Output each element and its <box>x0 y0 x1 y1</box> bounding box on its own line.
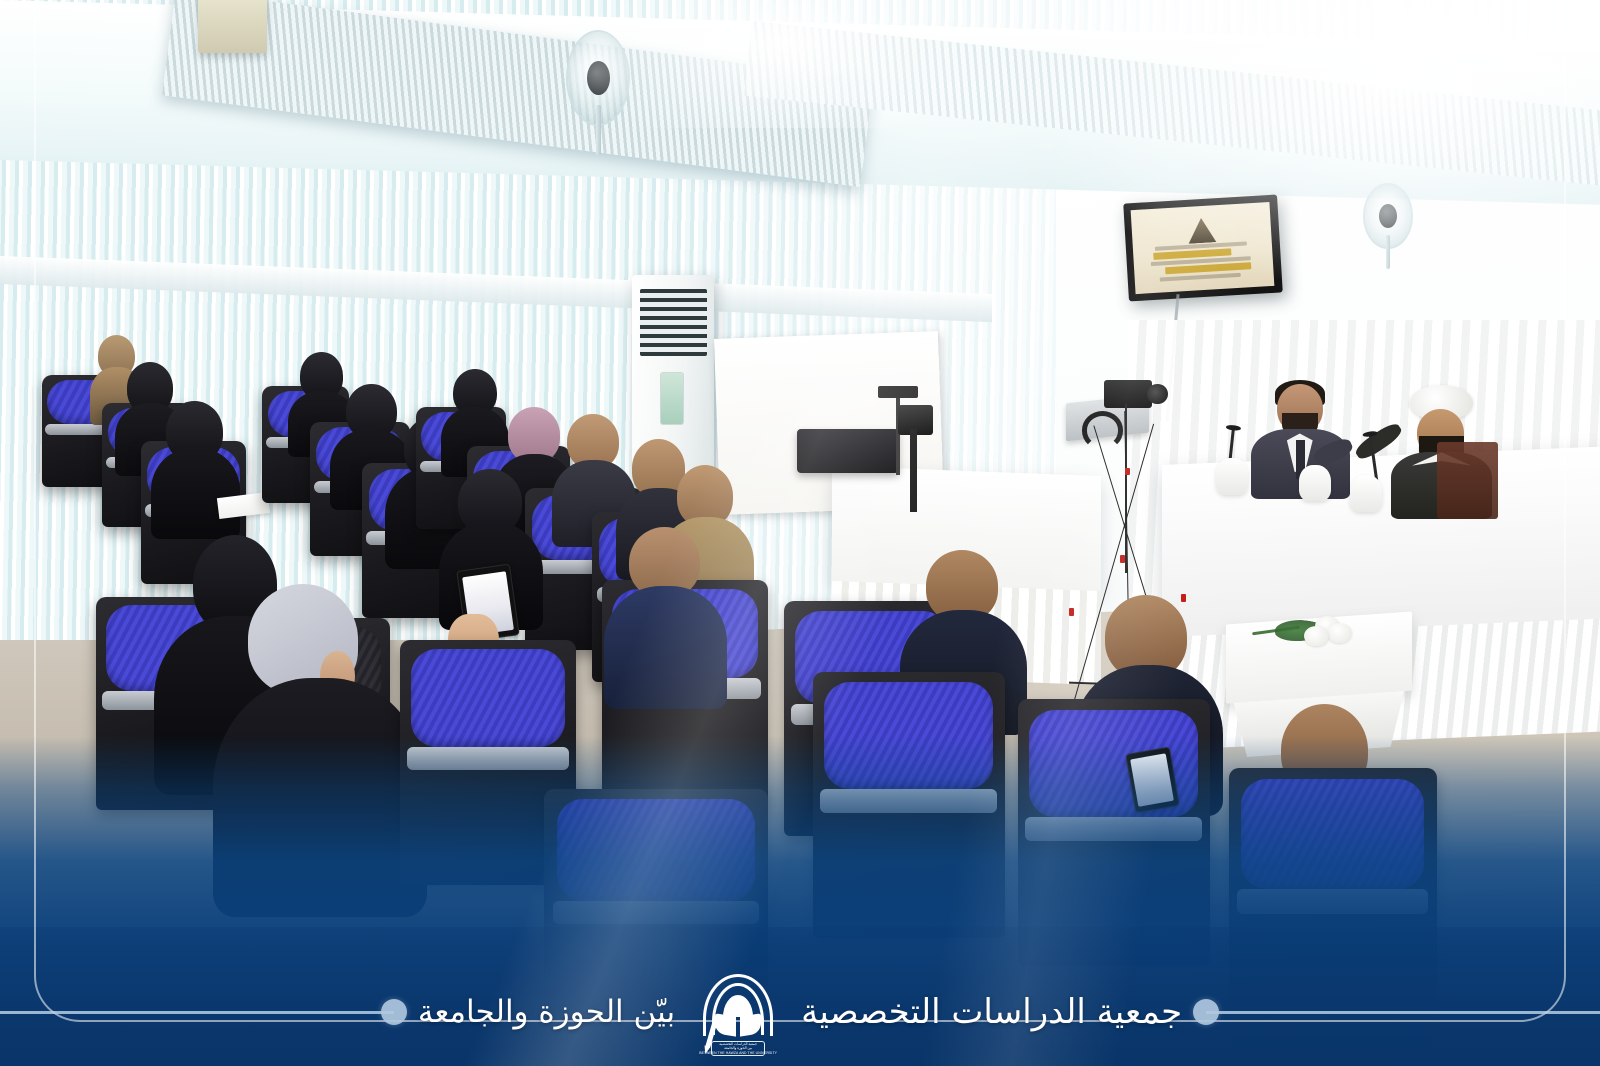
video-camera-icon <box>1104 380 1152 408</box>
wall-fan-icon <box>1363 183 1413 249</box>
tv-screen <box>1131 202 1275 294</box>
water-jug <box>1350 475 1382 511</box>
water-jug <box>1216 458 1248 494</box>
footer-rule-right <box>1206 1011 1600 1014</box>
logo-plate-en: BETWEEN THE HAWZA AND THE UNIVERSITY <box>699 1051 777 1055</box>
auditorium-seat <box>1018 699 1210 966</box>
ac-louvers <box>640 289 707 356</box>
conference-photograph <box>0 0 1600 1066</box>
logo-nameplate: جمعية الدراسات التخصصية بين الحوزة والجا… <box>711 1041 765 1056</box>
audience-member <box>614 527 716 676</box>
auditorium-seat <box>813 672 1005 939</box>
brand-title-arabic: جمعية الدراسات التخصصية <box>801 995 1182 1029</box>
footer-brand-bar: بيّن الحوزة والجامعة جمعية الدراسات التخ… <box>0 958 1600 1066</box>
wall-fan-icon <box>566 30 630 126</box>
open-book-icon <box>715 1015 761 1035</box>
audience-member-photographer <box>230 584 403 861</box>
stage-chair <box>1437 442 1498 519</box>
footer-dot-right <box>1193 999 1219 1025</box>
audience-member <box>557 414 631 525</box>
white-roses-decor <box>1270 610 1353 646</box>
slide-emblem-icon <box>1188 217 1217 244</box>
ac-display-panel <box>660 372 684 425</box>
wall-mounted-tv <box>1124 195 1283 302</box>
brand-lockup: بيّن الحوزة والجامعة جمعية الدراسات التخ… <box>394 970 1206 1054</box>
headphones-icon <box>1082 411 1124 450</box>
photo-card: بيّن الحوزة والجامعة جمعية الدراسات التخ… <box>0 0 1600 1066</box>
footer-dot-left <box>381 999 407 1025</box>
water-jug <box>1299 465 1331 501</box>
mihrab-book-pen-logo-icon: جمعية الدراسات التخصصية بين الحوزة والجا… <box>701 970 775 1054</box>
brand-subtitle-arabic: بيّن الحوزة والجامعة <box>418 997 675 1028</box>
secondary-tripod <box>874 405 954 512</box>
footer-rule-left <box>0 1011 394 1014</box>
ceiling-ac-box <box>198 0 267 53</box>
mobile-phone <box>1125 747 1179 814</box>
